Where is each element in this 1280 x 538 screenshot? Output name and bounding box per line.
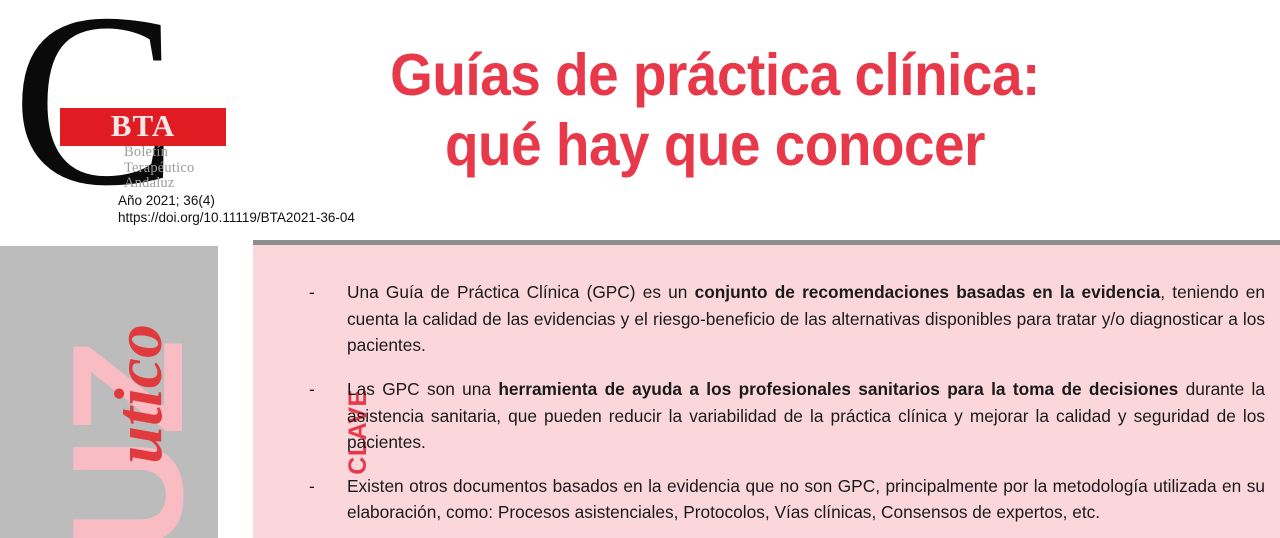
key-point-text: Las GPC son una <box>347 379 498 399</box>
page-title-line-2: qué hay que conocer <box>329 110 1101 180</box>
sidebar-decorative-panel: UZ utico <box>0 246 218 538</box>
citation-block: Año 2021; 36(4) https://doi.org/10.11119… <box>118 192 355 226</box>
key-points-panel: CLAVE -Una Guía de Práctica Clínica (GPC… <box>253 245 1280 538</box>
logo-subtitle-line-3: Andaluz <box>124 176 194 192</box>
key-points-list: -Una Guía de Práctica Clínica (GPC) es u… <box>303 262 1265 526</box>
key-point-item: -Existen otros documentos basados en la … <box>303 473 1265 526</box>
key-point-text: Existen otros documentos basados en la e… <box>347 476 1265 523</box>
page-title: Guías de práctica clínica: qué hay que c… <box>329 40 1101 180</box>
document-header: C BTA Boletín Terapéutico Andaluz Año 20… <box>0 0 1280 236</box>
sidebar-script-text: utico <box>94 324 184 538</box>
key-point-text: Una Guía de Práctica Clínica (GPC) es un <box>347 282 695 302</box>
logo-subtitle-line-2: Terapéutico <box>124 161 194 177</box>
logo-subtitle-line-1: Boletín <box>124 145 194 161</box>
bullet-dash-marker: - <box>309 473 325 500</box>
bullet-dash-marker: - <box>309 376 325 403</box>
logo-bta-label: BTA <box>60 108 226 146</box>
document-page: C BTA Boletín Terapéutico Andaluz Año 20… <box>0 0 1280 538</box>
logo-bta-badge: BTA <box>60 108 226 146</box>
key-point-emphasis: herramienta de ayuda a los profesionales… <box>498 379 1178 399</box>
page-title-line-1: Guías de práctica clínica: <box>329 40 1101 110</box>
key-point-emphasis: conjunto de recomendaciones basadas en l… <box>695 282 1161 302</box>
citation-doi-link[interactable]: https://doi.org/10.11119/BTA2021-36-04 <box>118 209 355 226</box>
bta-logo: C BTA Boletín Terapéutico Andaluz <box>8 10 248 200</box>
citation-issue: Año 2021; 36(4) <box>118 192 355 209</box>
key-point-item: -Una Guía de Práctica Clínica (GPC) es u… <box>303 279 1265 359</box>
logo-subtitle: Boletín Terapéutico Andaluz <box>124 145 194 192</box>
bullet-dash-marker: - <box>309 279 325 306</box>
key-point-item: -Las GPC son una herramienta de ayuda a … <box>303 376 1265 456</box>
